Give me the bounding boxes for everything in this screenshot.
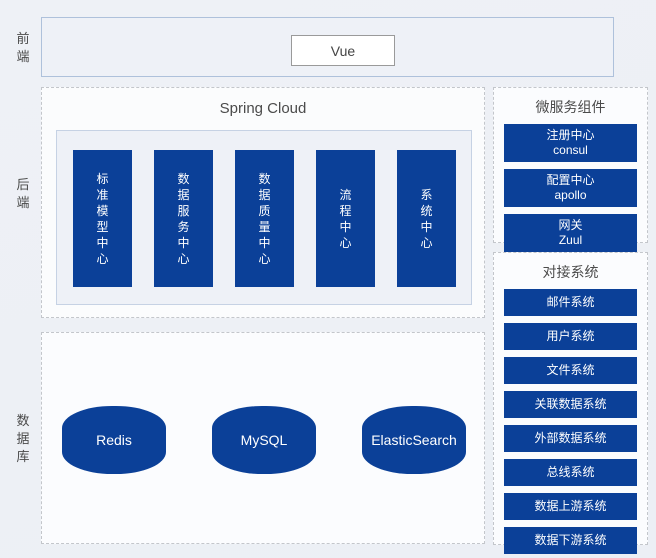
spring-cloud-inner-panel: 标 准 模 型 中 心 数 据 服 务 中 心 数 据 质 量 中 心 流 程 … bbox=[56, 130, 472, 305]
database-cylinder[interactable]: ElasticSearch bbox=[362, 406, 466, 474]
service-center-block[interactable]: 系 统 中 心 bbox=[397, 150, 456, 287]
integration-item[interactable]: 用户系统 bbox=[504, 323, 637, 350]
microservice-components-panel: 微服务组件 注册中心 consul 配置中心 apollo 网关 Zuul bbox=[493, 87, 648, 243]
integration-item[interactable]: 总线系统 bbox=[504, 459, 637, 486]
integration-panel-list: 邮件系统 用户系统 文件系统 关联数据系统 外部数据系统 总线系统 数据上游系统… bbox=[494, 289, 647, 554]
integration-item[interactable]: 外部数据系统 bbox=[504, 425, 637, 452]
integration-item[interactable]: 关联数据系统 bbox=[504, 391, 637, 418]
service-center-block[interactable]: 流 程 中 心 bbox=[316, 150, 375, 287]
integration-item[interactable]: 数据下游系统 bbox=[504, 527, 637, 554]
microservice-item[interactable]: 注册中心 consul bbox=[504, 124, 637, 162]
architecture-diagram: 前 端 后 端 数 据 库 Vue Spring Cloud 标 准 模 型 中… bbox=[0, 0, 656, 558]
frontend-band: Vue bbox=[41, 17, 614, 77]
integration-item[interactable]: 数据上游系统 bbox=[504, 493, 637, 520]
tier-label-database: 数 据 库 bbox=[8, 412, 38, 466]
spring-cloud-title: Spring Cloud bbox=[42, 100, 484, 117]
integration-systems-panel: 对接系统 邮件系统 用户系统 文件系统 关联数据系统 外部数据系统 总线系统 数… bbox=[493, 252, 648, 545]
integration-panel-title: 对接系统 bbox=[494, 262, 647, 282]
service-center-block[interactable]: 标 准 模 型 中 心 bbox=[73, 150, 132, 287]
database-container: Redis MySQL ElasticSearch bbox=[41, 332, 485, 544]
microservice-panel-list: 注册中心 consul 配置中心 apollo 网关 Zuul bbox=[494, 124, 647, 252]
spring-cloud-container: Spring Cloud 标 准 模 型 中 心 数 据 服 务 中 心 数 据… bbox=[41, 87, 485, 318]
vue-box[interactable]: Vue bbox=[291, 35, 395, 66]
tier-label-frontend: 前 端 bbox=[8, 30, 38, 66]
microservice-item[interactable]: 配置中心 apollo bbox=[504, 169, 637, 207]
integration-item[interactable]: 邮件系统 bbox=[504, 289, 637, 316]
service-center-block[interactable]: 数 据 服 务 中 心 bbox=[154, 150, 213, 287]
microservice-panel-title: 微服务组件 bbox=[494, 97, 647, 117]
database-cylinder[interactable]: Redis bbox=[62, 406, 166, 474]
integration-item[interactable]: 文件系统 bbox=[504, 357, 637, 384]
service-center-block[interactable]: 数 据 质 量 中 心 bbox=[235, 150, 294, 287]
microservice-item[interactable]: 网关 Zuul bbox=[504, 214, 637, 252]
database-cylinder[interactable]: MySQL bbox=[212, 406, 316, 474]
tier-label-backend: 后 端 bbox=[8, 176, 38, 212]
